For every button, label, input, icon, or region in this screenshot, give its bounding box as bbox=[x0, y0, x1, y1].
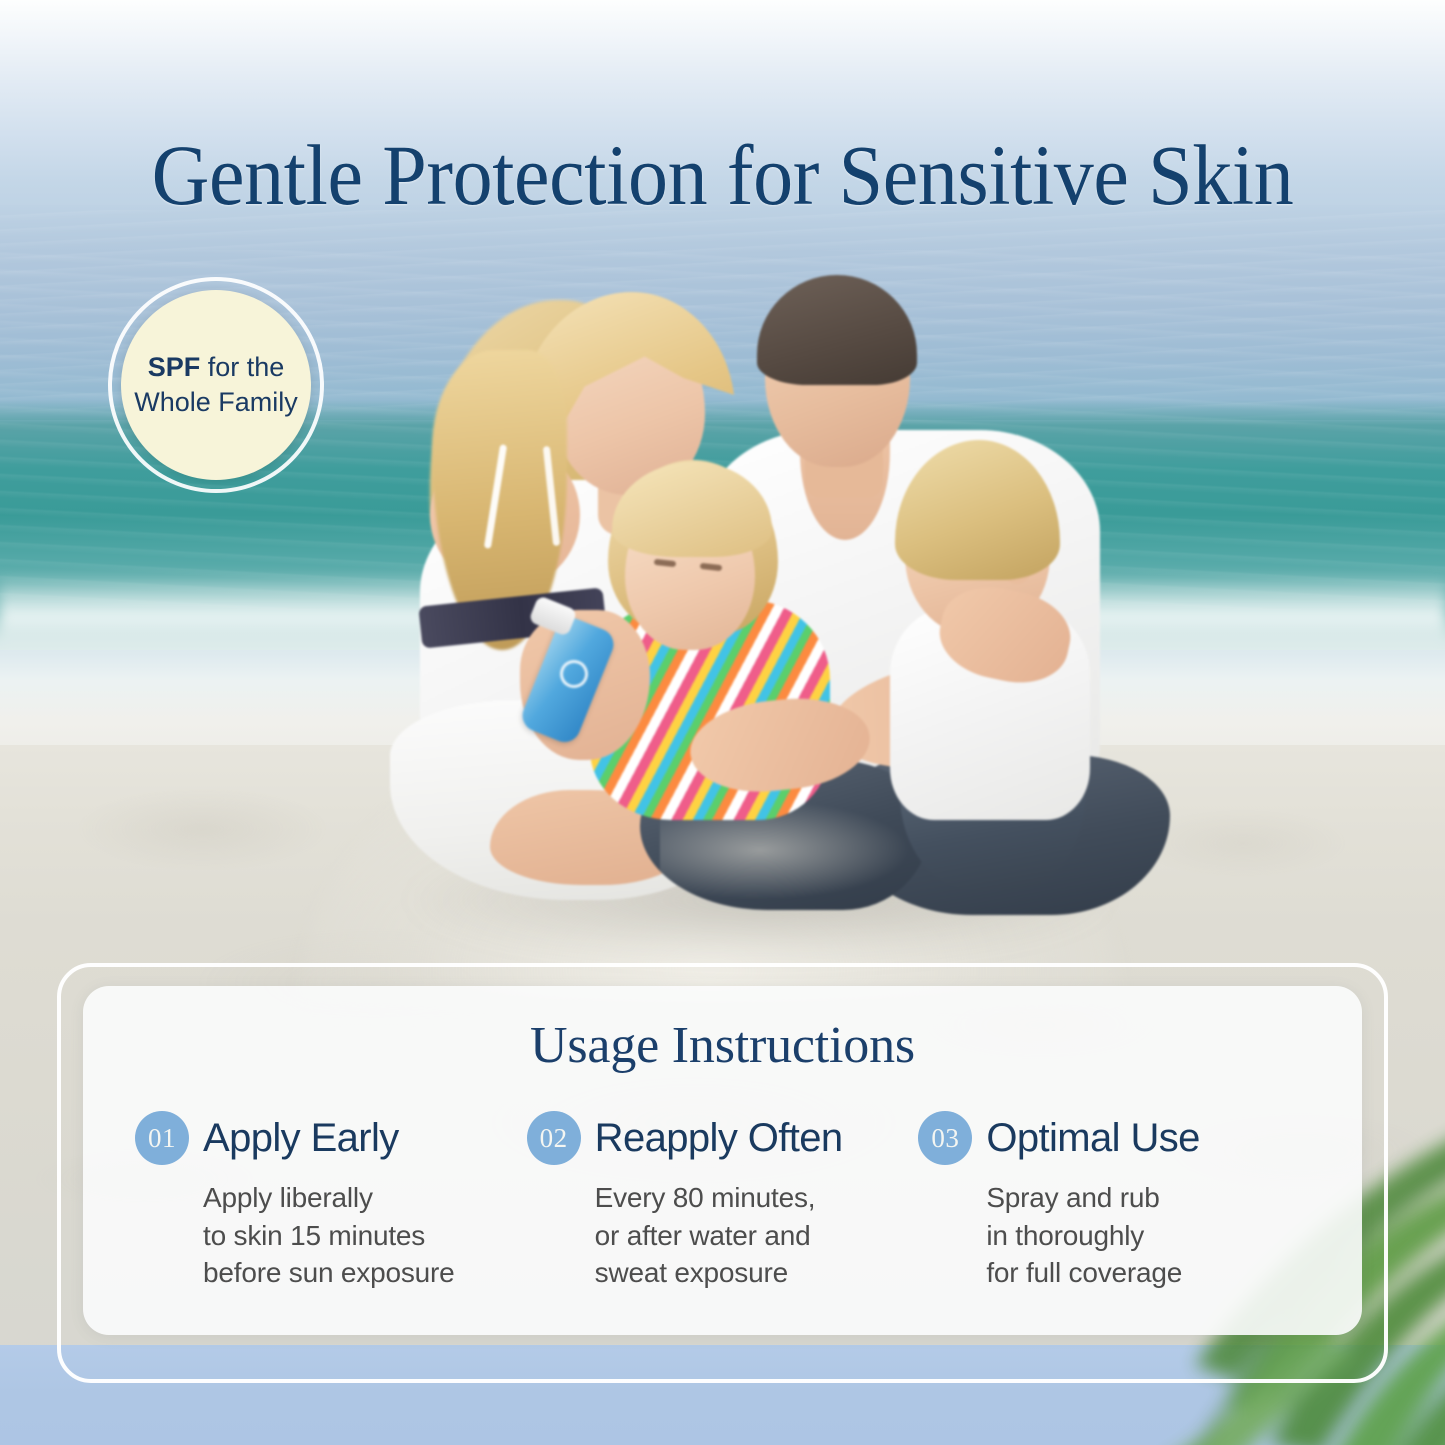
usage-step-2-head: 02 Reapply Often bbox=[527, 1111, 897, 1165]
spf-badge-bold: SPF bbox=[148, 352, 201, 382]
spf-badge-text: SPF for the Whole Family bbox=[121, 350, 311, 419]
step-title-02: Reapply Often bbox=[595, 1116, 843, 1161]
usage-step-1-head: 01 Apply Early bbox=[135, 1111, 505, 1165]
spf-badge-circle: SPF for the Whole Family bbox=[121, 290, 311, 480]
page-title: Gentle Protection for Sensitive Skin bbox=[51, 130, 1395, 220]
usage-steps-row: 01 Apply Early Apply liberally to skin 1… bbox=[83, 1111, 1362, 1292]
step-title-03: Optimal Use bbox=[986, 1116, 1199, 1161]
usage-step-3-head: 03 Optimal Use bbox=[918, 1111, 1288, 1165]
spf-badge: SPF for the Whole Family bbox=[108, 277, 324, 493]
step-number-badge-01: 01 bbox=[135, 1111, 189, 1165]
step-body-03: Spray and rub in thoroughly for full cov… bbox=[986, 1179, 1288, 1292]
usage-step-2: 02 Reapply Often Every 80 minutes, or af… bbox=[527, 1111, 919, 1292]
usage-panel-heading: Usage Instructions bbox=[83, 1016, 1362, 1075]
usage-step-1: 01 Apply Early Apply liberally to skin 1… bbox=[135, 1111, 527, 1292]
usage-step-3: 03 Optimal Use Spray and rub in thorough… bbox=[918, 1111, 1310, 1292]
step-body-01: Apply liberally to skin 15 minutes befor… bbox=[203, 1179, 505, 1292]
sunscreen-product-poster: Gentle Protection for Sensitive Skin SPF… bbox=[0, 0, 1445, 1445]
father-hair bbox=[757, 275, 917, 385]
step-number-badge-02: 02 bbox=[527, 1111, 581, 1165]
step-number-badge-03: 03 bbox=[918, 1111, 972, 1165]
usage-instructions-panel: Usage Instructions 01 Apply Early Apply … bbox=[83, 986, 1362, 1335]
step-title-01: Apply Early bbox=[203, 1116, 399, 1161]
step-body-02: Every 80 minutes, or after water and swe… bbox=[595, 1179, 897, 1292]
